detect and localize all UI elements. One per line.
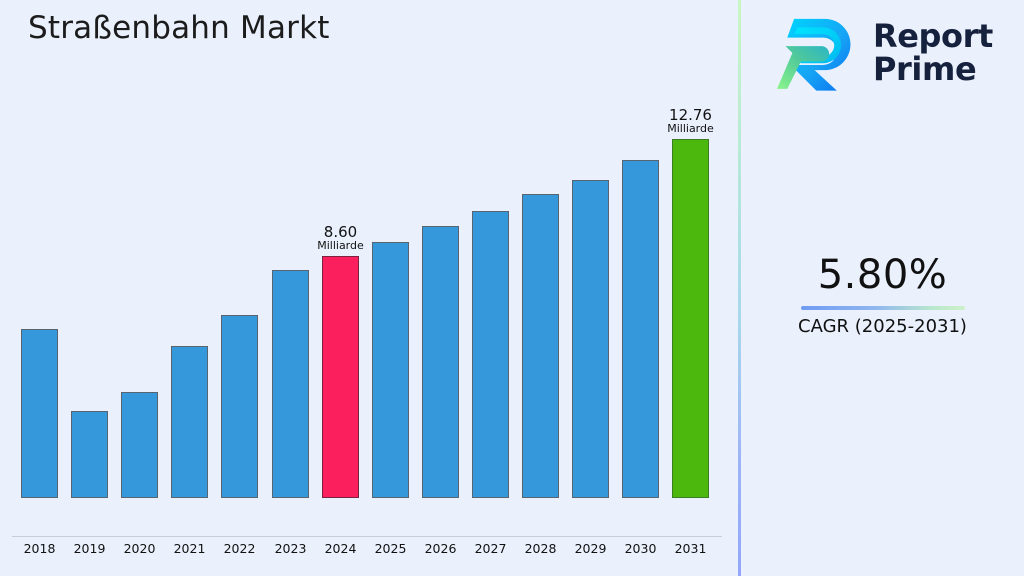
x-axis-tick-label: 2025 — [372, 541, 409, 556]
bar-data-label: 8.60Milliarde — [317, 224, 364, 252]
bar-group — [171, 286, 208, 498]
bar-group: 8.60Milliarde — [322, 196, 359, 498]
x-axis-tick-label: 2026 — [422, 541, 459, 556]
chart-bar[interactable] — [121, 392, 158, 498]
chart-bar[interactable] — [71, 411, 108, 498]
x-axis-tick-label: 2030 — [622, 541, 659, 556]
x-axis-tick-label: 2029 — [572, 541, 609, 556]
x-axis-tick-label: 2031 — [672, 541, 709, 556]
logo-wordmark: Report Prime — [873, 20, 993, 86]
x-axis-tick-label: 2028 — [522, 541, 559, 556]
chart-bar[interactable] — [322, 256, 359, 498]
x-axis-tick-label: 2024 — [322, 541, 359, 556]
x-axis-tick-label: 2020 — [121, 541, 158, 556]
bar-data-label-unit: Milliarde — [667, 123, 714, 135]
chart-bar[interactable] — [221, 315, 258, 498]
x-axis-tick-label: 2023 — [272, 541, 309, 556]
logo: Report Prime — [775, 12, 993, 94]
logo-line-2: Prime — [873, 53, 993, 86]
chart-bar[interactable] — [622, 160, 659, 498]
cagr-caption: CAGR (2025-2031) — [741, 316, 1024, 337]
bar-data-label: 12.76Milliarde — [667, 107, 714, 135]
bar-group — [21, 269, 58, 498]
cagr-block: 5.80% CAGR (2025-2031) — [741, 252, 1024, 337]
cagr-divider-rule — [801, 306, 965, 310]
bar-group — [472, 151, 509, 498]
cagr-value: 5.80% — [741, 252, 1024, 298]
bar-group: 12.76Milliarde — [672, 79, 709, 498]
bar-group — [572, 120, 609, 498]
chart-panel: Straßenbahn Markt 8.60Milliarde12.76Mill… — [0, 0, 739, 576]
bar-group — [71, 351, 108, 498]
x-axis-tick-label: 2022 — [221, 541, 258, 556]
x-axis-tick-label: 2021 — [171, 541, 208, 556]
bar-group — [622, 100, 659, 498]
chart-bar[interactable] — [572, 180, 609, 498]
bar-group — [372, 182, 409, 498]
chart-page: Straßenbahn Markt 8.60Milliarde12.76Mill… — [0, 0, 1024, 576]
plot-area: 8.60Milliarde12.76Milliarde — [0, 0, 739, 537]
bar-data-label-value: 8.60 — [317, 224, 364, 240]
chart-bar[interactable] — [472, 211, 509, 498]
x-axis-tick-label: 2018 — [21, 541, 58, 556]
chart-bar[interactable] — [171, 346, 208, 498]
chart-bar[interactable] — [422, 226, 459, 498]
chart-bar[interactable] — [21, 329, 58, 498]
x-axis-line — [12, 536, 722, 537]
report-prime-logo-icon — [775, 12, 861, 94]
bar-group — [522, 134, 559, 498]
chart-bar[interactable] — [672, 139, 709, 498]
bar-data-label-value: 12.76 — [667, 107, 714, 123]
bar-data-label-unit: Milliarde — [317, 240, 364, 252]
chart-bar[interactable] — [522, 194, 559, 498]
bar-group — [272, 210, 309, 498]
x-axis-tick-label: 2019 — [71, 541, 108, 556]
brand-panel: Report Prime 5.80% CAGR (2025-2031) — [741, 0, 1024, 576]
bar-group — [221, 255, 258, 498]
bar-group — [422, 166, 459, 498]
chart-bar[interactable] — [272, 270, 309, 498]
x-axis-tick-label: 2027 — [472, 541, 509, 556]
bar-group — [121, 332, 158, 498]
chart-bar[interactable] — [372, 242, 409, 498]
logo-line-1: Report — [873, 20, 993, 53]
